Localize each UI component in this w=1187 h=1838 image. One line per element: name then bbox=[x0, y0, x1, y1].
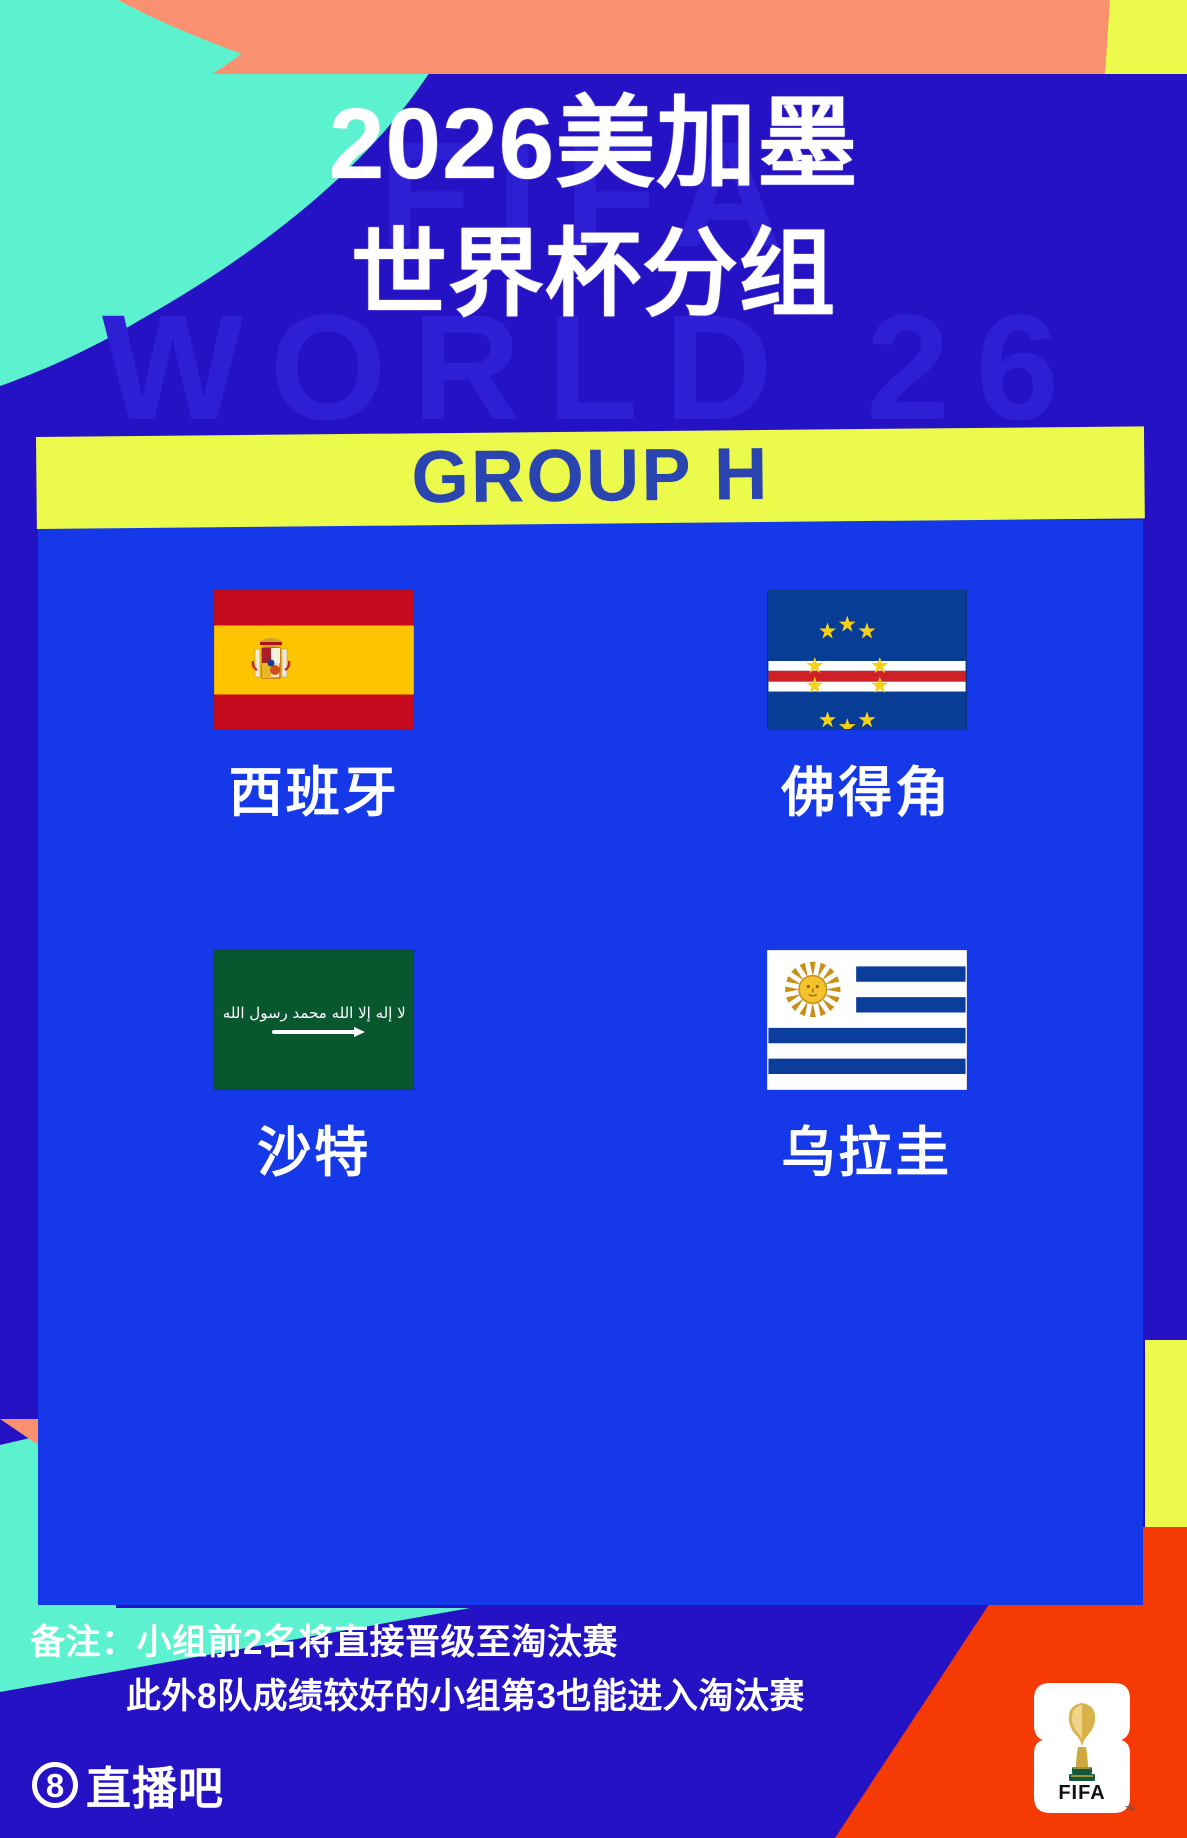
poster-title-line-1: 2026美加墨 bbox=[0, 78, 1187, 211]
brand-name-label: 直播吧 bbox=[86, 1752, 224, 1817]
uruguay-flag-art bbox=[768, 951, 966, 1089]
fifa-26-badge: FIFA TM bbox=[1028, 1681, 1136, 1819]
salmon-band-top bbox=[212, 0, 1113, 74]
brand-mark-icon: 8 bbox=[32, 1762, 78, 1808]
team-card-saudi-arabia[interactable]: لا إله إلا الله محمد رسول الله 沙特 bbox=[94, 950, 534, 1180]
team-name-label: 沙特 bbox=[94, 1126, 534, 1180]
spain-coat-of-arms-icon bbox=[251, 635, 291, 687]
group-banner: GROUP H bbox=[36, 426, 1145, 529]
group-label: GROUP H bbox=[411, 437, 770, 514]
fifa-trademark-symbol: TM bbox=[1125, 1806, 1135, 1813]
yellow-shape-top-right bbox=[1105, 0, 1187, 74]
brand-logo[interactable]: 8 直播吧 bbox=[32, 1752, 224, 1817]
saudi-arabia-flag: لا إله إلا الله محمد رسول الله bbox=[214, 950, 414, 1090]
uruguay-flag bbox=[767, 950, 967, 1090]
cape-verde-flag-art bbox=[768, 591, 966, 729]
team-name-label: 西班牙 bbox=[94, 766, 534, 820]
yellow-strip-bottom-right bbox=[1145, 1340, 1187, 1527]
footer-note-line-1: 备注：小组前2名将直接晋级至淘汰赛 bbox=[30, 1616, 1030, 1670]
saudi-shahada-text: لا إله إلا الله محمد رسول الله bbox=[223, 1006, 406, 1021]
saudi-sword-icon bbox=[272, 1030, 356, 1034]
team-card-cape-verde[interactable]: 佛得角 bbox=[647, 590, 1087, 820]
footer-note: 备注：小组前2名将直接晋级至淘汰赛 此外8队成绩较好的小组第3也能进入淘汰赛 bbox=[30, 1616, 1030, 1725]
team-card-spain[interactable]: 西班牙 bbox=[94, 590, 534, 820]
team-card-uruguay[interactable]: 乌拉圭 bbox=[647, 950, 1087, 1180]
fifa-wordmark: FIFA bbox=[1028, 1782, 1136, 1805]
footer-note-line-2: 此外8队成绩较好的小组第3也能进入淘汰赛 bbox=[30, 1670, 1030, 1724]
teams-grid: 西班牙 bbox=[38, 590, 1143, 1180]
team-name-label: 乌拉圭 bbox=[647, 1126, 1087, 1180]
cape-verde-flag bbox=[767, 590, 967, 730]
poster-header: 2026美加墨 世界杯分组 bbox=[0, 78, 1187, 339]
sun-of-may-icon bbox=[785, 962, 840, 1017]
poster-title-line-2: 世界杯分组 bbox=[0, 211, 1187, 339]
teams-panel: 西班牙 bbox=[38, 520, 1143, 1605]
team-name-label: 佛得角 bbox=[647, 766, 1087, 820]
spain-flag bbox=[214, 590, 414, 730]
